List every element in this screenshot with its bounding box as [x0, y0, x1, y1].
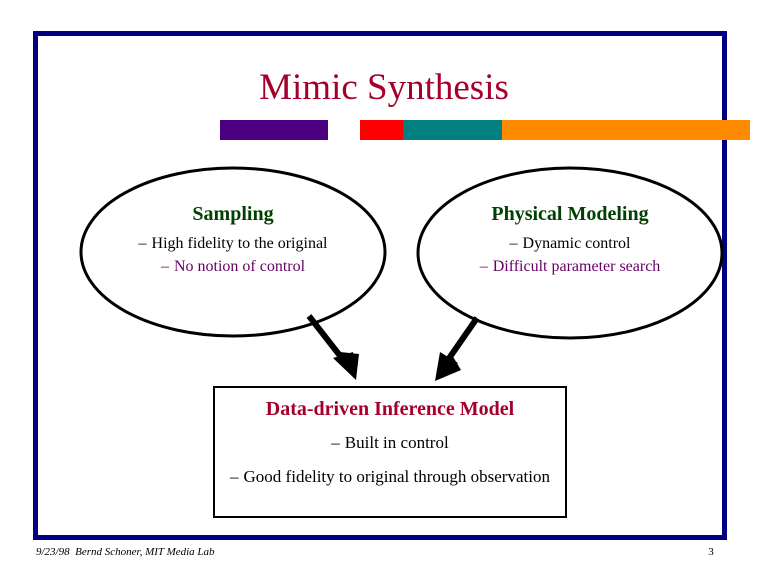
- ellipse-physical-modeling-bullet-2: –Difficult parameter search: [418, 255, 722, 278]
- bullet-text: No notion of control: [174, 258, 305, 275]
- bullet-text: Dynamic control: [523, 235, 631, 252]
- ellipse-physical-modeling-bullet-1: –Dynamic control: [418, 232, 722, 255]
- footer-page-number: 3: [700, 546, 722, 558]
- result-box-bullet-2: –Good fidelity to original through obser…: [215, 465, 565, 489]
- bullet-dash-icon: –: [139, 235, 147, 252]
- bullet-text: Good fidelity to original through observ…: [244, 467, 550, 486]
- bullet-dash-icon: –: [230, 467, 239, 486]
- accent-bar-red: [360, 120, 403, 140]
- bullet-text: Built in control: [345, 433, 449, 452]
- bullet-dash-icon: –: [480, 258, 488, 275]
- ellipse-sampling-content: Sampling –High fidelity to the original …: [80, 202, 386, 278]
- bullet-text: Difficult parameter search: [493, 258, 661, 275]
- ellipse-sampling-heading: Sampling: [80, 202, 386, 226]
- arrow-sampling-to-model: [309, 316, 359, 380]
- ellipse-physical-modeling-heading: Physical Modeling: [418, 202, 722, 226]
- accent-bar-purple: [220, 120, 328, 140]
- page-title: Mimic Synthesis: [0, 66, 768, 110]
- bullet-dash-icon: –: [510, 235, 518, 252]
- footer-date-author: 9/23/98 Bernd Schoner, MIT Media Lab: [36, 546, 215, 558]
- result-box: Data-driven Inference Model –Built in co…: [213, 386, 567, 518]
- result-box-bullet-1: –Built in control: [215, 431, 565, 455]
- bullet-text: High fidelity to the original: [152, 235, 328, 252]
- slide-canvas: Mimic Synthesis Sampling –High fidelity …: [0, 0, 768, 576]
- bullet-dash-icon: –: [161, 258, 169, 275]
- accent-bar-orange: [502, 120, 750, 140]
- bullet-dash-icon: –: [331, 433, 340, 452]
- ellipse-sampling-bullet-2: –No notion of control: [80, 255, 386, 278]
- accent-bar-teal: [403, 120, 502, 140]
- ellipse-physical-modeling-content: Physical Modeling –Dynamic control –Diff…: [418, 202, 722, 278]
- ellipse-sampling-bullet-1: –High fidelity to the original: [80, 232, 386, 255]
- arrow-physical-modeling-to-model: [435, 318, 477, 381]
- result-box-heading: Data-driven Inference Model: [215, 397, 565, 421]
